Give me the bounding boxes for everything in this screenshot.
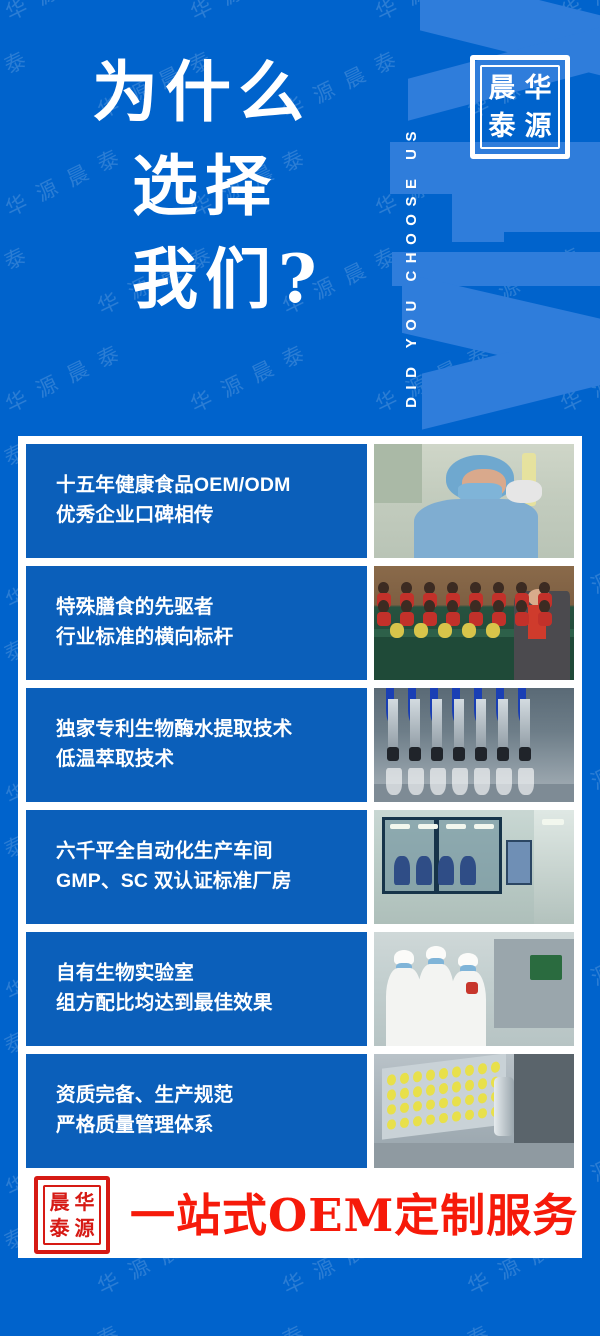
feature-line: GMP、SC 双认证标准厂房: [56, 867, 367, 897]
feature-photo-conference: [374, 566, 574, 680]
poster-root: 为什么 选择 我们? DID YOU CHOOSE US 华 晨 源 泰 华源晨…: [0, 0, 600, 1336]
features-list: 十五年健康食品OEM/ODM 优秀企业口碑相传 特殊膳食的先驱者 行业标准的横向…: [26, 444, 574, 1168]
seal-char-yuan: 源: [525, 113, 552, 140]
feature-text-6: 资质完备、生产规范 严格质量管理体系: [26, 1054, 367, 1168]
feature-text-3: 独家专利生物酶水提取技术 低温萃取技术: [26, 688, 367, 802]
list-item[interactable]: 自有生物实验室 组方配比均达到最佳效果: [26, 932, 574, 1046]
feature-line: 优秀企业口碑相传: [56, 501, 367, 531]
feature-line: 独家专利生物酶水提取技术: [56, 715, 367, 745]
seal-char-tai: 泰: [50, 1218, 70, 1238]
list-item[interactable]: 十五年健康食品OEM/ODM 优秀企业口碑相传: [26, 444, 574, 558]
feature-line: 十五年健康食品OEM/ODM: [56, 471, 367, 501]
list-item[interactable]: 独家专利生物酶水提取技术 低温萃取技术: [26, 688, 574, 802]
features-frame: 十五年健康食品OEM/ODM 优秀企业口碑相传 特殊膳食的先驱者 行业标准的横向…: [18, 436, 582, 1258]
feature-line: 自有生物实验室: [56, 959, 367, 989]
list-item[interactable]: 资质完备、生产规范 严格质量管理体系: [26, 1054, 574, 1168]
title-line-1: 为什么: [92, 46, 324, 140]
feature-photo-filling-machine: [374, 688, 574, 802]
feature-line: 行业标准的横向标杆: [56, 623, 367, 653]
banner-slogan: 一站式OEM定制服务: [130, 1193, 578, 1238]
feature-text-1: 十五年健康食品OEM/ODM 优秀企业口碑相传: [26, 444, 367, 558]
poster-header: 为什么 选择 我们? DID YOU CHOOSE US 华 晨 源 泰: [0, 0, 600, 434]
page-title: 为什么 选择 我们?: [92, 46, 324, 327]
watermark-text: 华源晨泰: [185, 1312, 320, 1336]
watermark-text: 华源晨泰: [555, 1312, 600, 1336]
title-line-2: 选择: [92, 140, 324, 234]
seal-char-chen: 晨: [489, 75, 516, 102]
vertical-english-text: DID YOU CHOOSE US: [403, 124, 420, 408]
feature-text-2: 特殊膳食的先驱者 行业标准的横向标杆: [26, 566, 367, 680]
feature-line: 资质完备、生产规范: [56, 1081, 367, 1111]
list-item[interactable]: 特殊膳食的先驱者 行业标准的横向标杆: [26, 566, 574, 680]
feature-line: 六千平全自动化生产车间: [56, 837, 367, 867]
feature-line: 低温萃取技术: [56, 745, 367, 775]
watermark-text: 华源晨泰: [370, 1312, 505, 1336]
list-item[interactable]: 六千平全自动化生产车间 GMP、SC 双认证标准厂房: [26, 810, 574, 924]
feature-text-5: 自有生物实验室 组方配比均达到最佳效果: [26, 932, 367, 1046]
feature-photo-lab-technician: [374, 444, 574, 558]
feature-photo-cleanroom: [374, 810, 574, 924]
feature-photo-blister-packing: [374, 1054, 574, 1168]
banner-seal-icon: 华 晨 源 泰: [34, 1176, 110, 1254]
feature-line: 严格质量管理体系: [56, 1111, 367, 1141]
seal-char-yuan: 源: [75, 1218, 95, 1238]
feature-line: 组方配比均达到最佳效果: [56, 989, 367, 1019]
seal-char-hua: 华: [75, 1192, 95, 1212]
feature-text-4: 六千平全自动化生产车间 GMP、SC 双认证标准厂房: [26, 810, 367, 924]
feature-photo-lab-workers: [374, 932, 574, 1046]
seal-char-tai: 泰: [489, 113, 516, 140]
vertical-english-tagline: DID YOU CHOOSE US: [398, 18, 424, 408]
title-line-3: 我们?: [92, 233, 324, 327]
brand-seal-icon: 华 晨 源 泰: [470, 55, 570, 159]
feature-line: 特殊膳食的先驱者: [56, 593, 367, 623]
watermark-text: 华源晨泰: [0, 1312, 135, 1336]
seal-char-chen: 晨: [50, 1192, 70, 1212]
seal-char-hua: 华: [525, 75, 552, 102]
